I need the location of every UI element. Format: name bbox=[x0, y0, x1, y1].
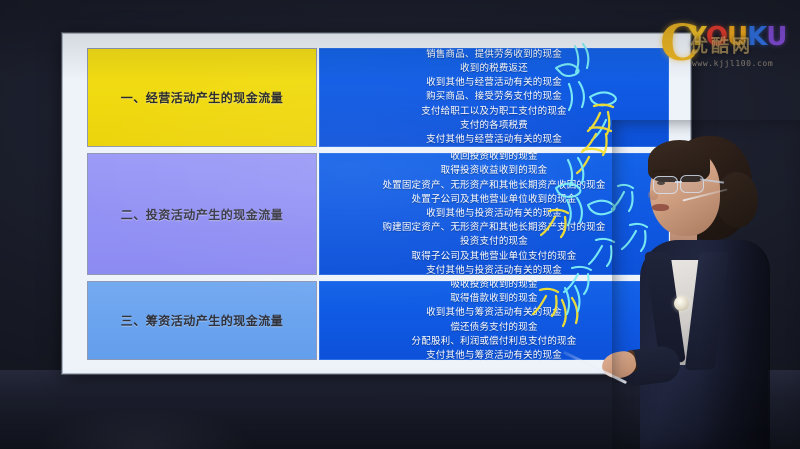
category-label-operating: 一、经营活动产生的现金流量 bbox=[87, 48, 317, 147]
slide-section-operating: 一、经营活动产生的现金流量 销售商品、提供劳务收到的现金 收到的税费返还 收到其… bbox=[87, 48, 669, 147]
channel-watermark: C YOUKU 优酷网 www.kjjl100.com bbox=[658, 8, 794, 80]
list-item: 吸收投资收到的现金 bbox=[450, 278, 537, 292]
list-item: 取得子公司及其他营业单位支付的现金 bbox=[412, 250, 577, 264]
list-item: 支付其他与筹资活动有关的现金 bbox=[426, 349, 562, 363]
list-item: 支付其他与投资活动有关的现金 bbox=[426, 264, 562, 278]
list-item: 支付给职工以及为职工支付的现金 bbox=[421, 105, 567, 119]
category-label-financing: 三、筹资活动产生的现金流量 bbox=[87, 281, 317, 360]
slide-content: 一、经营活动产生的现金流量 销售商品、提供劳务收到的现金 收到的税费返还 收到其… bbox=[87, 48, 669, 360]
whiteboard: 一、经营活动产生的现金流量 销售商品、提供劳务收到的现金 收到的税费返还 收到其… bbox=[62, 33, 691, 374]
list-item: 购买商品、接受劳务支付的现金 bbox=[426, 90, 562, 104]
list-item: 偿还债务支付的现金 bbox=[450, 321, 537, 335]
list-item: 取得借款收到的现金 bbox=[450, 292, 537, 306]
list-item: 收到其他与投资活动有关的现金 bbox=[426, 207, 562, 221]
list-item: 处置固定资产、无形资产和其他长期资产收回的现金 bbox=[382, 179, 605, 193]
video-frame: 一、经营活动产生的现金流量 销售商品、提供劳务收到的现金 收到的税费返还 收到其… bbox=[0, 0, 800, 449]
list-item: 收到其他与筹资活动有关的现金 bbox=[426, 306, 562, 320]
list-item: 销售商品、提供劳务收到的现金 bbox=[426, 48, 562, 62]
watermark-url: www.kjjl100.com bbox=[692, 60, 773, 68]
list-item: 支付的各项税费 bbox=[460, 119, 528, 133]
list-item: 支付其他与经营活动有关的现金 bbox=[426, 133, 562, 147]
list-item: 投资支付的现金 bbox=[460, 235, 528, 249]
floor-glow bbox=[40, 389, 300, 449]
presenter-edge-blend bbox=[612, 120, 800, 449]
watermark-brand-cn: 优酷网 bbox=[690, 38, 753, 56]
watermark-letter: U bbox=[766, 24, 786, 50]
category-label-investing: 二、投资活动产生的现金流量 bbox=[87, 153, 317, 275]
list-item: 分配股利、利润或偿付利息支付的现金 bbox=[412, 335, 577, 349]
list-item: 取得投资收益收到的现金 bbox=[441, 164, 548, 178]
presenter bbox=[612, 120, 800, 449]
list-item: 购建固定资产、无形资产和其他长期资产支付的现金 bbox=[382, 221, 605, 235]
list-item: 收到其他与经营活动有关的现金 bbox=[426, 76, 562, 90]
list-item: 收到的税费返还 bbox=[460, 62, 528, 76]
list-item: 收回投资收到的现金 bbox=[450, 150, 537, 164]
list-item: 处置子公司及其他营业单位收到的现金 bbox=[412, 193, 577, 207]
slide-section-financing: 三、筹资活动产生的现金流量 吸收投资收到的现金 取得借款收到的现金 收到其他与筹… bbox=[87, 281, 669, 360]
slide-section-investing: 二、投资活动产生的现金流量 收回投资收到的现金 取得投资收益收到的现金 处置固定… bbox=[87, 153, 669, 275]
